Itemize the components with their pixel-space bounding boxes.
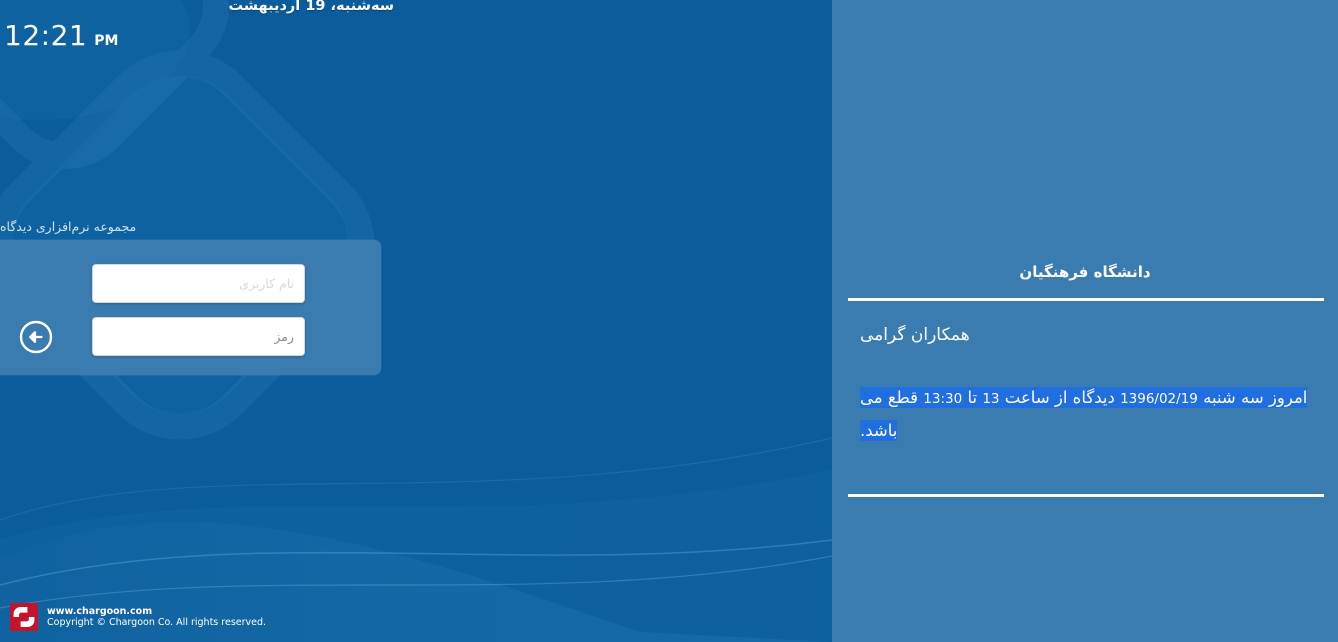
notice-date: 1396/02/19 [1120, 391, 1198, 407]
login-card [0, 240, 381, 375]
footer-site-label[interactable]: www.chargoon.com [47, 606, 266, 618]
product-title-label: مجموعه نرم‌افزاری دیدگاه [0, 219, 136, 234]
divider-top [848, 298, 1324, 301]
divider-bottom [848, 494, 1324, 497]
notice-part-4: قطع می باشد. [860, 388, 923, 440]
notice-part-2: دیدگاه از ساعت [1000, 388, 1121, 407]
login-screen: سه‌شنبه، 19 اردیبهشت 12:21PM مجموعه نرم‌… [0, 0, 1338, 642]
greeting-label: همکاران گرامی [846, 325, 1324, 345]
footer: www.chargoon.com Copyright © Chargoon Co… [10, 603, 266, 631]
organization-title: دانشگاه فرهنگیان [846, 263, 1324, 281]
notice-part-3: تا [962, 388, 982, 407]
notice-part-1: امروز سه شنبه [1198, 388, 1308, 407]
password-input[interactable] [92, 317, 305, 356]
date-label: سه‌شنبه، 19 اردیبهشت [0, 0, 400, 16]
footer-copyright-label: Copyright © Chargoon Co. All rights rese… [47, 617, 266, 629]
notice-text: امروز سه شنبه 1396/02/19 دیدگاه از ساعت … [846, 382, 1324, 446]
time-meridiem-label: PM [94, 33, 118, 49]
time-row: 12:21PM [0, 19, 400, 52]
product-title: مجموعه نرم‌افزاری دیدگاه [0, 219, 382, 234]
announcement-panel: دانشگاه فرهنگیان همکاران گرامی امروز سه … [832, 0, 1338, 642]
arrow-left-circle-icon [18, 319, 54, 355]
clock-block: سه‌شنبه، 19 اردیبهشت 12:21PM [0, 0, 400, 52]
time-label: 12:21 [4, 19, 87, 52]
notice-time-start: 13 [982, 391, 999, 407]
notice-time-end: 13:30 [923, 391, 962, 407]
left-branding-panel: سه‌شنبه، 19 اردیبهشت 12:21PM مجموعه نرم‌… [0, 0, 832, 642]
chargoon-logo [10, 603, 38, 631]
footer-text: www.chargoon.com Copyright © Chargoon Co… [47, 606, 266, 629]
username-input[interactable] [92, 264, 305, 303]
login-submit-button[interactable] [18, 319, 54, 355]
